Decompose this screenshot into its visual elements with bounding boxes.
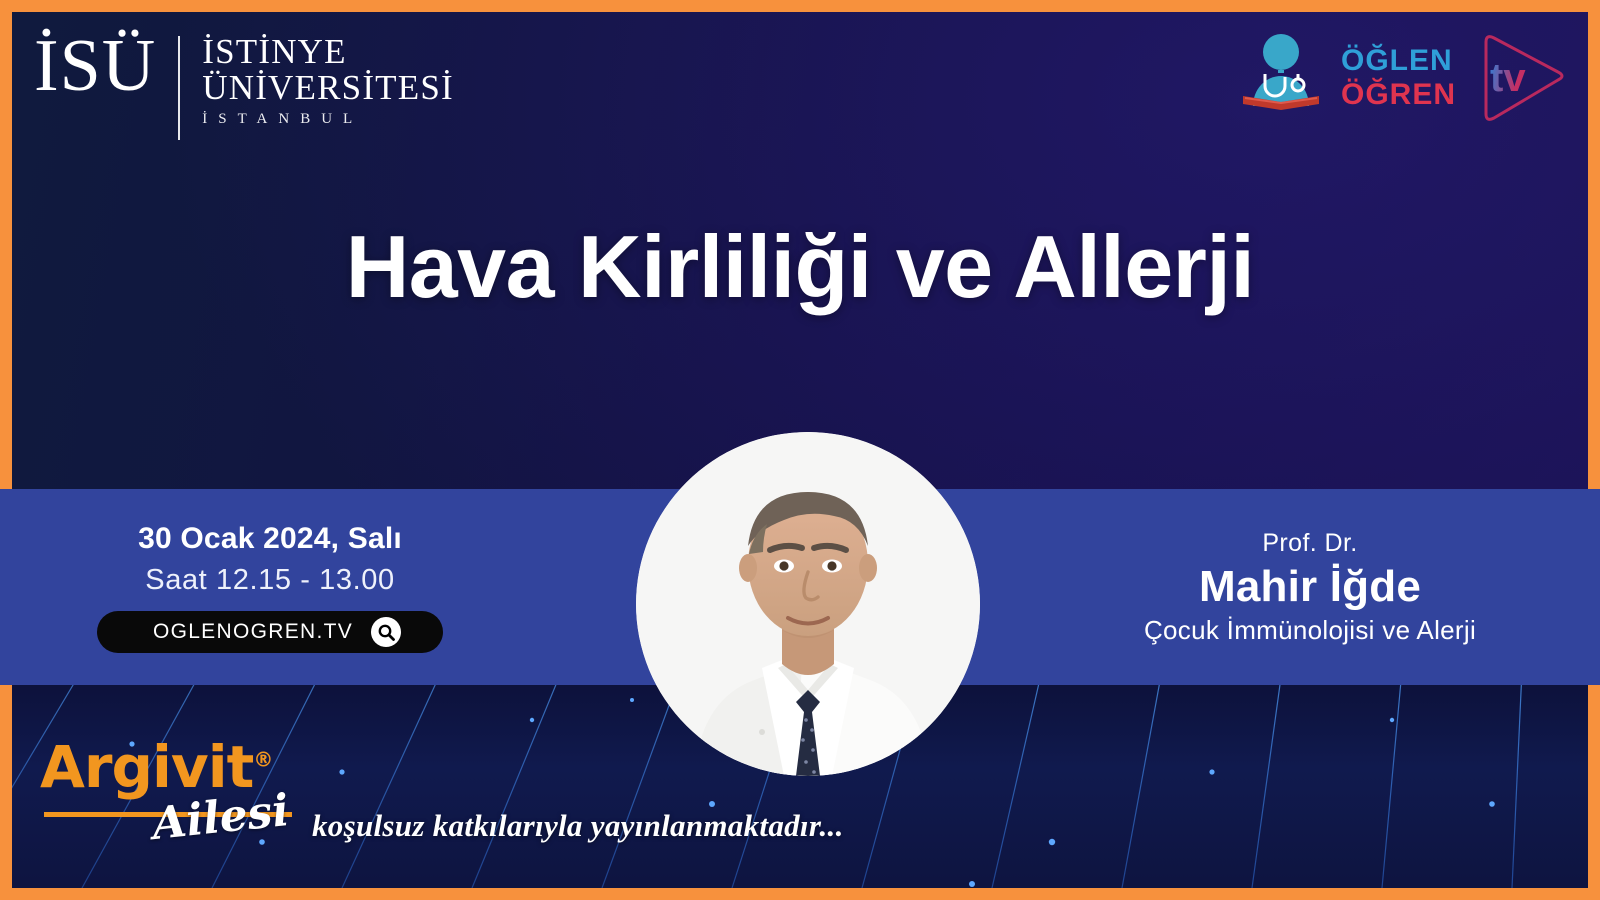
sponsor-logo: Argivit® Ailesi — [40, 738, 340, 858]
speaker-role: Çocuk İmmünolojisi ve Alerji — [1144, 615, 1476, 646]
university-name-line1: İSTİNYE — [202, 34, 454, 70]
search-icon[interactable] — [371, 617, 401, 647]
university-name-line2: ÜNİVERSİTESİ — [202, 70, 454, 106]
sponsor-brand: Argivit® — [40, 738, 340, 796]
tv-play-badge: tv — [1466, 26, 1574, 130]
border-bottom — [0, 888, 1600, 900]
tv-label: tv — [1490, 56, 1526, 101]
university-logo: İSÜ İSTİNYE ÜNİVERSİTESİ İSTANBUL — [34, 30, 454, 140]
event-time: Saat 12.15 - 13.00 — [145, 564, 394, 597]
website-label: OGLENOGREN.TV — [153, 620, 353, 644]
webinar-poster: İSÜ İSTİNYE ÜNİVERSİTESİ İSTANBUL ÖĞLEN … — [0, 0, 1600, 900]
university-monogram: İSÜ — [34, 30, 178, 103]
border-left — [0, 0, 12, 900]
event-date: 30 Ocak 2024, Salı — [138, 522, 402, 556]
website-pill[interactable]: OGLENOGREN.TV — [97, 611, 443, 653]
doctor-reading-book-icon — [1231, 28, 1331, 128]
sponsor-statement: koşulsuz katkılarıyla yayınlanmaktadır..… — [312, 808, 844, 844]
university-name: İSTİNYE ÜNİVERSİTESİ İSTANBUL — [180, 30, 454, 128]
logo-divider — [178, 36, 180, 140]
channel-logo: ÖĞLEN ÖĞREN tv — [1231, 26, 1574, 130]
channel-name-line1: ÖĞLEN — [1341, 46, 1456, 76]
speaker-name: Mahir İğde — [1199, 562, 1421, 612]
speaker-title: Prof. Dr. — [1262, 529, 1357, 558]
university-city: İSTANBUL — [202, 111, 454, 128]
speaker-photo — [636, 432, 980, 776]
border-right — [1588, 0, 1600, 900]
magnifier-glyph — [376, 622, 396, 642]
channel-name-line2: ÖĞREN — [1341, 80, 1456, 110]
page-title: Hava Kirliliği ve Allerji — [0, 216, 1600, 318]
registered-mark: ® — [253, 748, 272, 772]
border-top — [0, 0, 1600, 12]
channel-name: ÖĞLEN ÖĞREN — [1341, 46, 1456, 110]
event-details: 30 Ocak 2024, Salı Saat 12.15 - 13.00 OG… — [0, 489, 620, 685]
speaker-details: Prof. Dr. Mahir İğde Çocuk İmmünolojisi … — [980, 489, 1600, 685]
avatar — [636, 432, 980, 776]
